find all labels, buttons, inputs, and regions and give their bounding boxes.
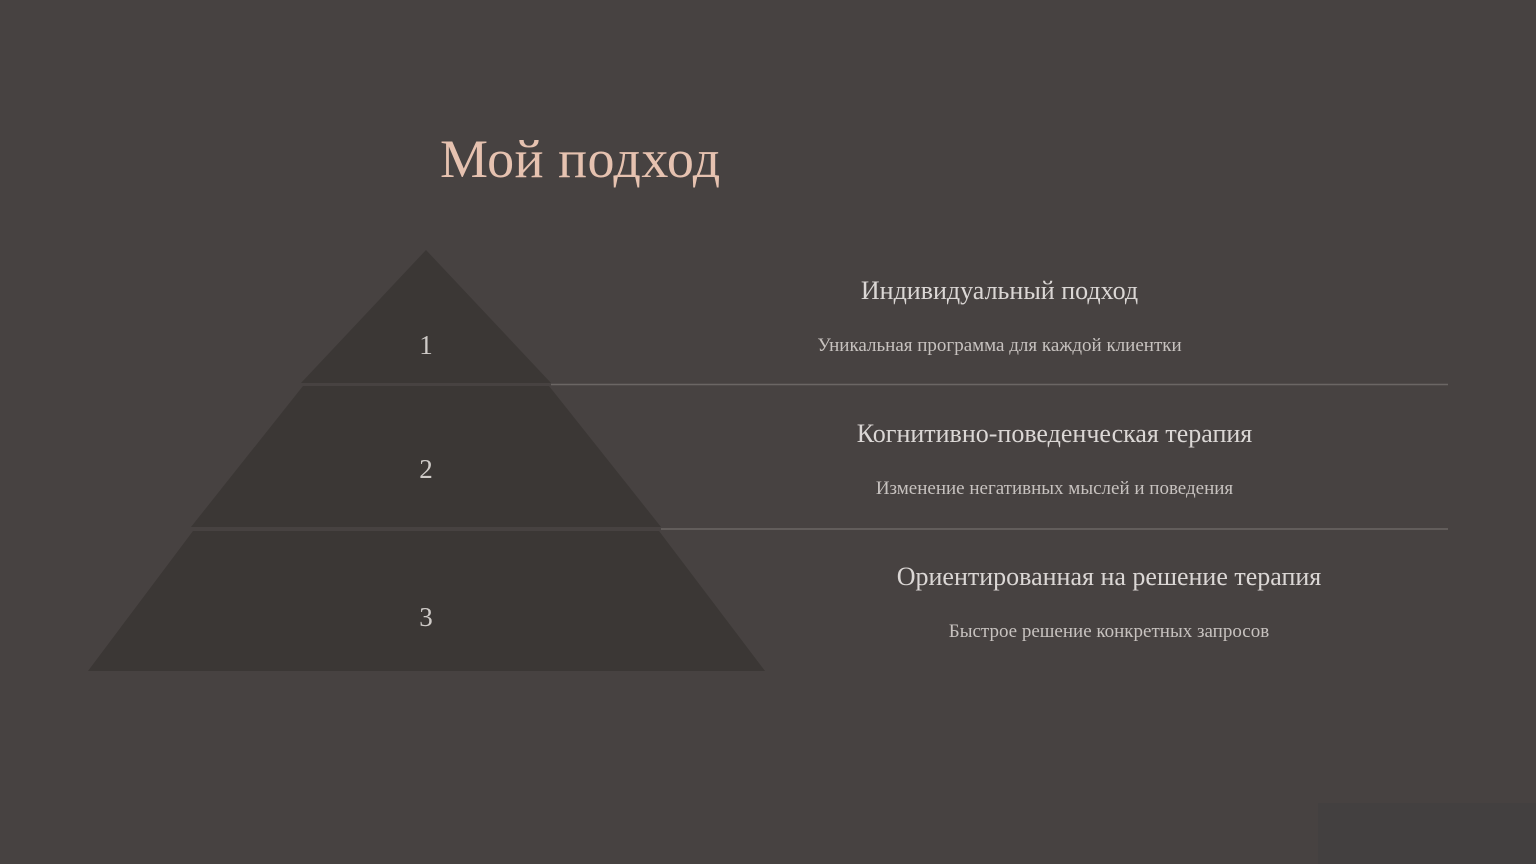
pyramid-level-3-text-block: Ориентированная на решение терапия Быстр… xyxy=(770,561,1448,644)
pyramid-level-2-heading: Когнитивно-поведенческая терапия xyxy=(661,418,1448,451)
pyramid-level-2-number: 2 xyxy=(396,456,456,483)
pyramid-level-3-heading: Ориентированная на решение терапия xyxy=(770,561,1448,594)
pyramid-level-3-number: 3 xyxy=(396,604,456,631)
pyramid-level-3-subtitle: Быстрое решение конкретных запросов xyxy=(770,620,1448,645)
pyramid-level-2-subtitle: Изменение негативных мыслей и поведения xyxy=(661,477,1448,502)
pyramid-level-1-number: 1 xyxy=(396,332,456,359)
pyramid-level-1-text-block: Индивидуальный подход Уникальная програм… xyxy=(551,275,1448,358)
pyramid-level-1-subtitle: Уникальная программа для каждой клиентки xyxy=(551,334,1448,359)
pyramid-level-2-text-block: Когнитивно-поведенческая терапия Изменен… xyxy=(661,418,1448,501)
bottom-right-corner-panel xyxy=(1318,803,1536,864)
pyramid-level-1-heading: Индивидуальный подход xyxy=(551,275,1448,308)
page-title: Мой подход xyxy=(440,128,721,190)
pyramid-level-1-shape xyxy=(301,250,551,383)
pyramid-level-3-shape xyxy=(88,531,765,671)
slide-canvas: Мой подход 1 2 3 Индивидуальный подход У… xyxy=(0,0,1536,864)
